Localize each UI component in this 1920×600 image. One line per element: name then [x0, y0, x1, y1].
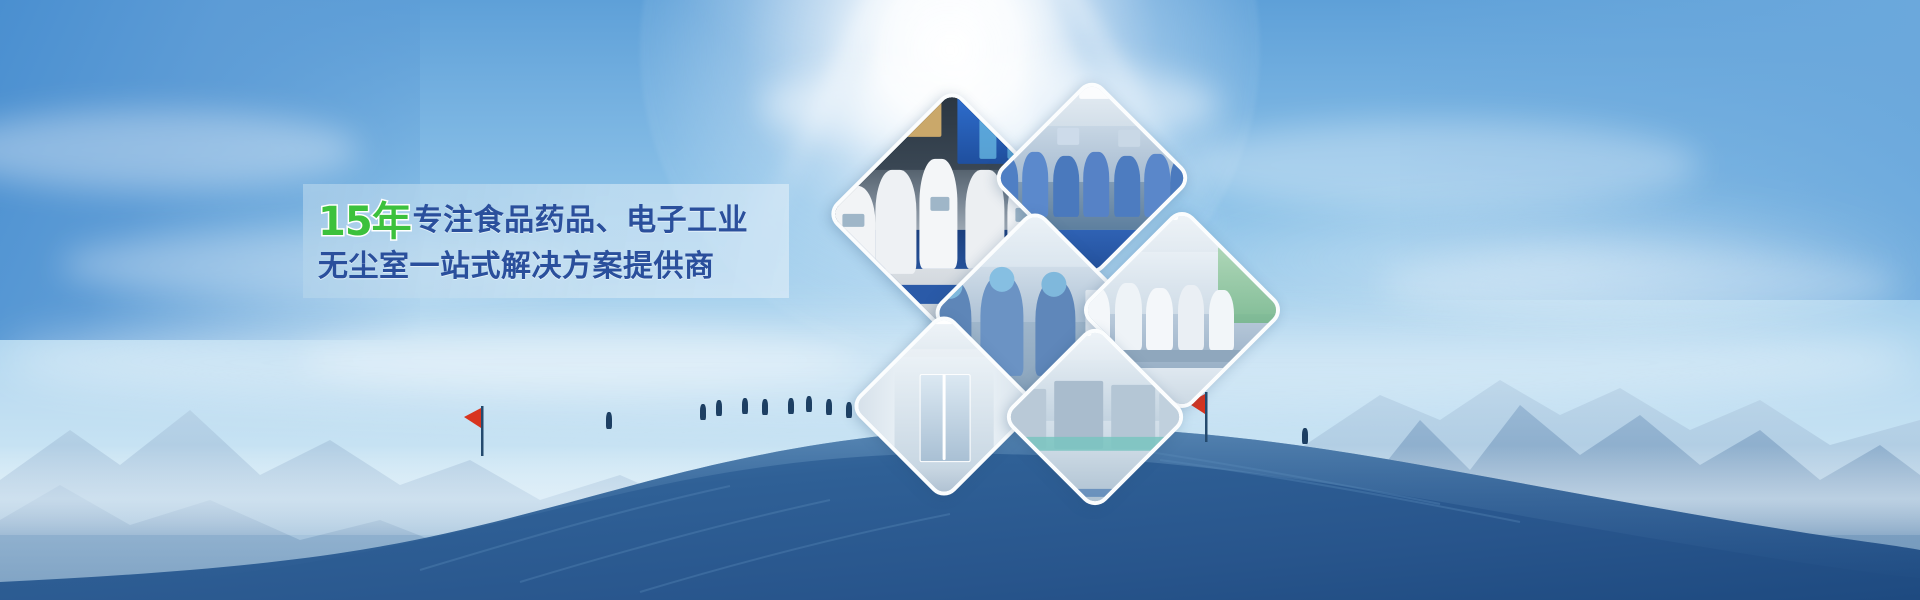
hero-banner: 15年 专注食品药品、电子工业 无尘室一站式解决方案提供商 [0, 0, 1920, 600]
years-badge: 15年 [318, 202, 411, 242]
headline-block: 15年 专注食品药品、电子工业 无尘室一站式解决方案提供商 [318, 198, 788, 290]
flag-left [462, 406, 504, 456]
cleanroom-photo-collage [840, 88, 1280, 470]
headline-line-1: 15年 专注食品药品、电子工业 [318, 198, 788, 244]
headline-line-1-rest: 专注食品药品、电子工业 [413, 198, 749, 244]
headline-line-2: 无尘室一站式解决方案提供商 [318, 244, 788, 290]
